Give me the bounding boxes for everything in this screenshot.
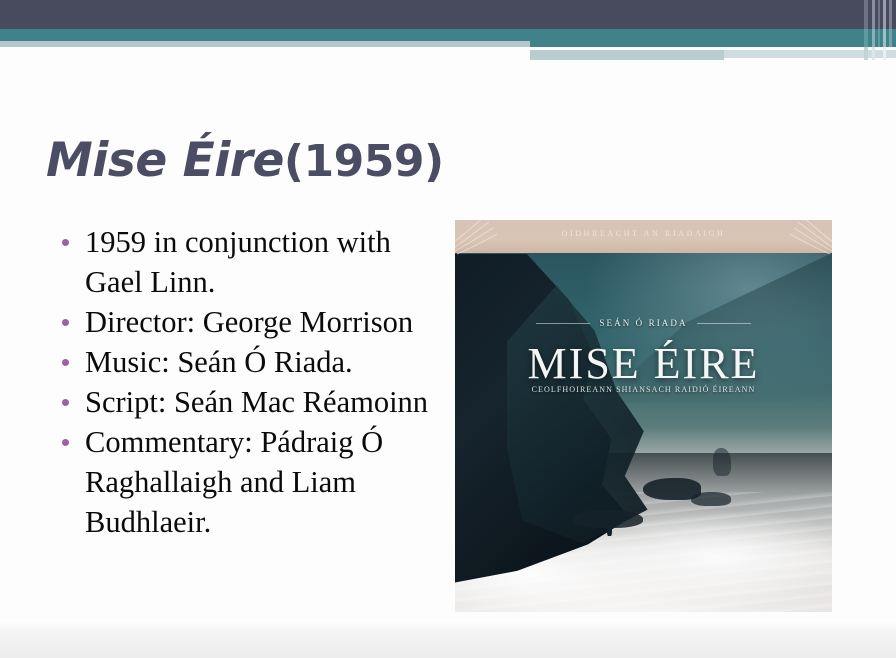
header-vstripe-12 xyxy=(872,47,875,60)
cover-credit-line: SEÁN Ó RIADA xyxy=(455,318,832,328)
list-item: Script: Seán Mac Réamoinn xyxy=(50,382,440,422)
list-item-text: Commentary: Pádraig Ó Raghallaigh and Li… xyxy=(85,425,383,539)
header-vstripe-9 xyxy=(883,29,886,47)
cover-wisp-right-icon xyxy=(778,220,832,256)
header-vstripe-1 xyxy=(864,0,868,29)
cover-title-text: MISE ÉIRE xyxy=(455,338,832,389)
list-item: Commentary: Pádraig Ó Raghallaigh and Li… xyxy=(50,422,440,542)
album-cover-image: OIDHREACHT AN RIADAIGH SEÁN Ó RIADA MISE… xyxy=(455,220,832,612)
bullet-dot-icon xyxy=(62,239,69,246)
header-vstripe-2 xyxy=(872,0,875,29)
header-teal-band-left xyxy=(0,29,530,41)
list-item: Director: George Morrison xyxy=(50,302,440,342)
cover-credit-text: SEÁN Ó RIADA xyxy=(599,318,687,328)
bullet-list: 1959 in conjunction with Gael Linn. Dire… xyxy=(50,222,440,542)
list-item-text: 1959 in conjunction with Gael Linn. xyxy=(85,225,391,299)
page-title-main: Mise Éire xyxy=(46,133,284,188)
list-item: Music: Seán Ó Riada. xyxy=(50,342,440,382)
header-teal-band-right xyxy=(530,29,896,47)
cover-rock-2 xyxy=(691,492,731,506)
header-vstripe-10 xyxy=(889,29,892,47)
footer-fade-band xyxy=(0,620,896,658)
page-title: Mise Éire(1959) xyxy=(46,126,566,196)
list-item-text: Script: Seán Mac Réamoinn xyxy=(85,385,428,419)
header-vstripe-13 xyxy=(883,47,886,60)
cover-banner-text: OIDHREACHT AN RIADAIGH xyxy=(455,229,832,238)
header-light-band-left xyxy=(0,41,530,47)
header-vstripe-11 xyxy=(864,47,868,60)
header-vstripe-7 xyxy=(872,29,875,47)
cover-lone-figure xyxy=(607,520,612,536)
header-dark-band xyxy=(0,0,896,29)
cover-rock-4 xyxy=(713,448,731,476)
header-pale-tail xyxy=(724,50,896,58)
page-title-year: (1959) xyxy=(284,136,444,187)
header-vstripe-3 xyxy=(878,0,880,29)
bullet-dot-icon xyxy=(62,439,69,446)
list-item-text: Director: George Morrison xyxy=(85,305,413,339)
header-vstripe-4 xyxy=(883,0,886,29)
list-item-text: Music: Seán Ó Riada. xyxy=(85,345,353,379)
bullet-dot-icon xyxy=(62,359,69,366)
header-white-hairline xyxy=(530,47,832,50)
header-vstripe-8 xyxy=(878,29,880,47)
header-vstripe-5 xyxy=(889,0,892,29)
cover-subtitle-text: CEOLFHOIREANN SHIANSACH RAIDIÓ ÉIREANN xyxy=(455,385,832,394)
cover-rule-right xyxy=(697,323,751,324)
header-light-band-right-inner xyxy=(530,50,724,60)
bullet-dot-icon xyxy=(62,399,69,406)
cover-wisp-left-icon xyxy=(455,220,509,256)
cover-rule-left xyxy=(536,323,590,324)
bullet-dot-icon xyxy=(62,319,69,326)
list-item: 1959 in conjunction with Gael Linn. xyxy=(50,222,440,302)
slide-canvas: Mise Éire(1959) 1959 in conjunction with… xyxy=(0,0,896,658)
header-vstripe-6 xyxy=(864,29,868,47)
